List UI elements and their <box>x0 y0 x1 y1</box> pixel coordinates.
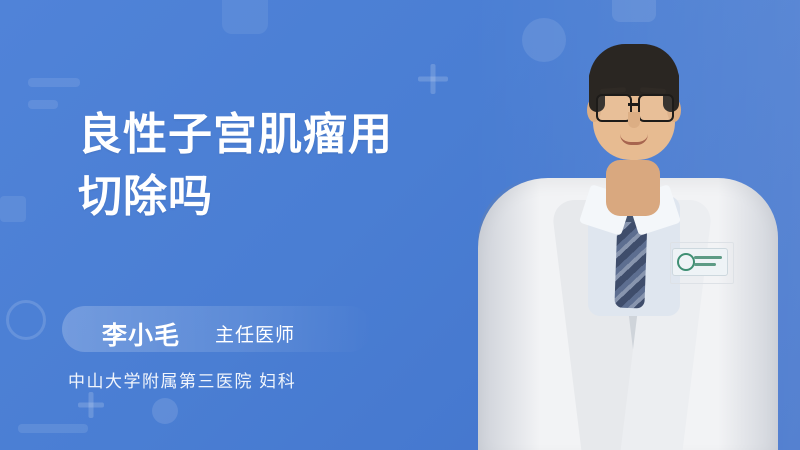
doctor-name: 李小毛 <box>102 316 180 352</box>
coat-shadow-right <box>718 178 778 450</box>
doctor-title: 主任医师 <box>215 320 295 347</box>
deco-cross-top <box>418 64 448 94</box>
doctor-portrait <box>460 0 800 450</box>
eyeglass-lens-right <box>638 94 674 122</box>
nose <box>628 112 640 128</box>
deco-square-top <box>222 0 268 34</box>
deco-circle-bottom-left <box>152 398 178 424</box>
badge-text-line <box>694 256 722 259</box>
doctor-video-cover: 良性子宫肌瘤用 切除吗 李小毛 主任医师 中山大学附属第三医院 妇科 <box>0 0 800 450</box>
eyeglass-bridge <box>628 103 640 106</box>
deco-square-left <box>0 196 26 222</box>
hospital-id-badge <box>672 248 728 276</box>
neck <box>606 160 660 216</box>
deco-bar-top-left <box>28 78 80 87</box>
eyeglass-lens-left <box>596 94 632 122</box>
badge-text-line <box>694 263 716 266</box>
page-title: 良性子宫肌瘤用 切除吗 <box>78 104 498 228</box>
deco-bar-bottom-left <box>18 424 88 433</box>
hospital-department: 中山大学附属第三医院 妇科 <box>68 367 296 392</box>
deco-ring-left <box>6 300 46 340</box>
coat-shadow-left <box>478 178 540 450</box>
deco-bar-top-left-2 <box>28 100 58 109</box>
deco-cross-bottom <box>78 392 104 418</box>
badge-logo-icon <box>677 253 695 271</box>
